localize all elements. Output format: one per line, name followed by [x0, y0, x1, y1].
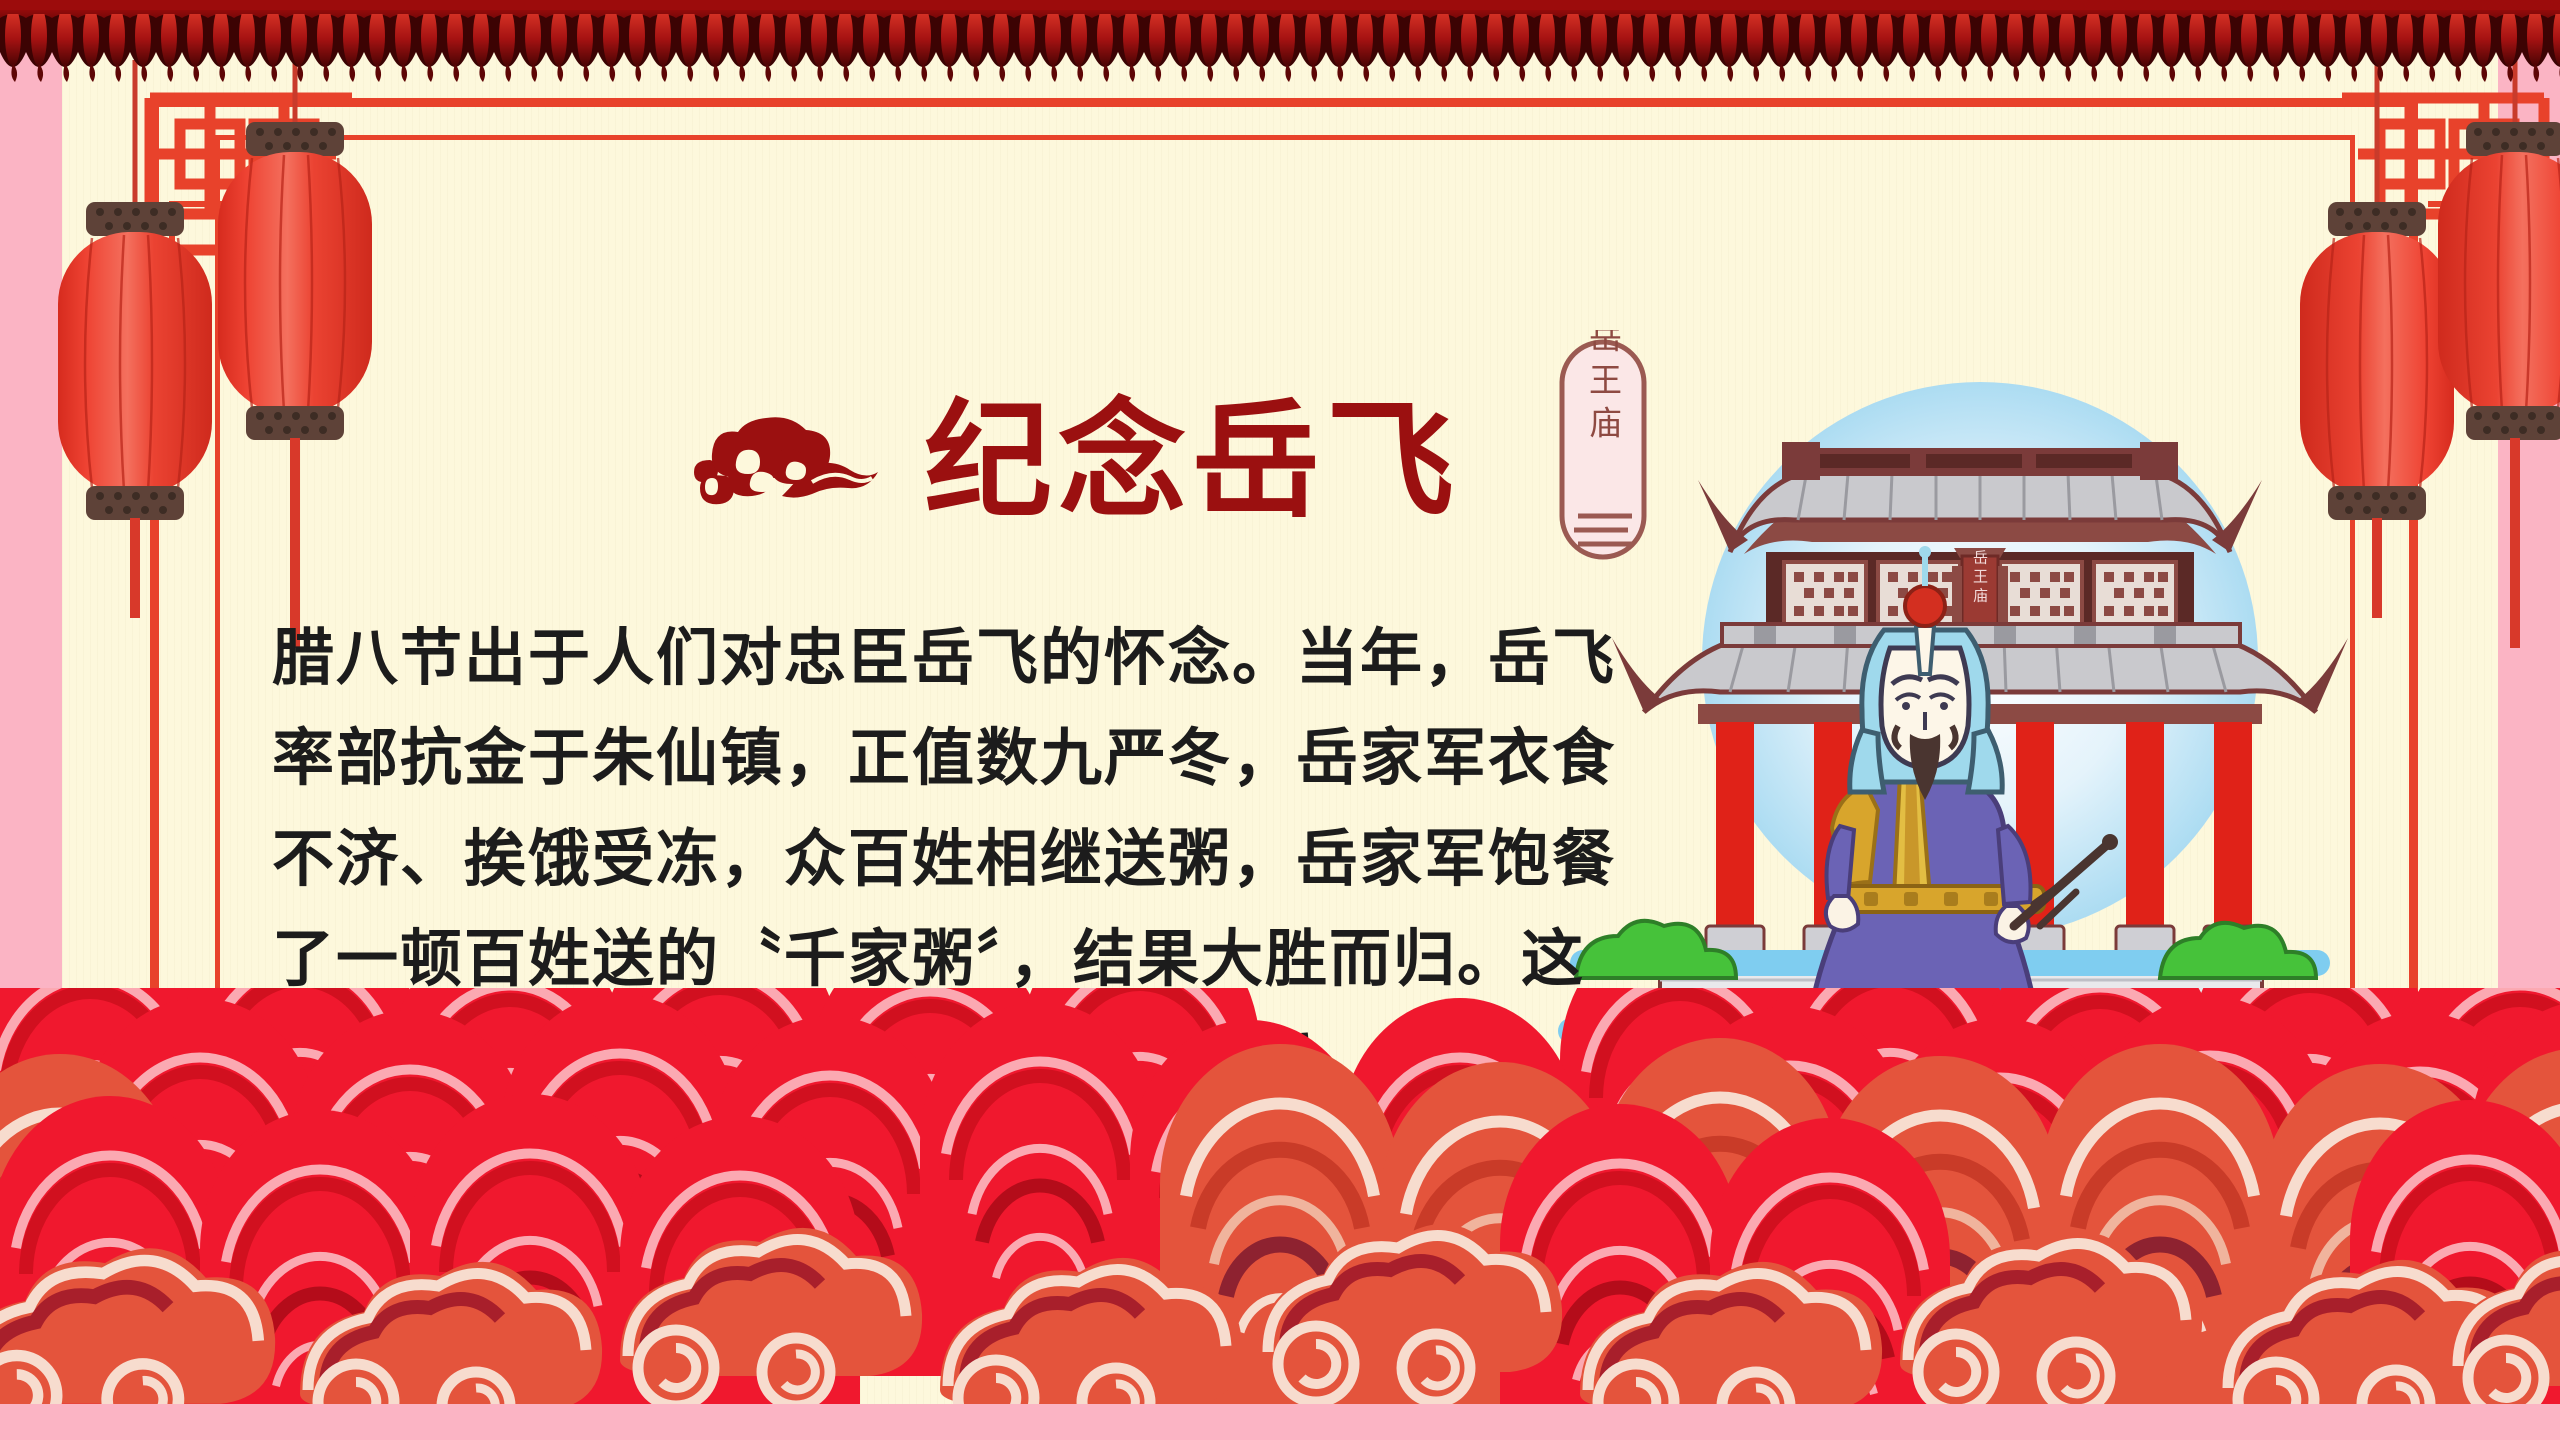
tassel-valance-decoration — [0, 0, 2560, 86]
frame-inner-top — [215, 135, 2355, 140]
plaque-text: 岳王庙 — [1971, 550, 1989, 607]
frame-line-top — [150, 98, 2418, 107]
temple-name-banner: 岳王庙 — [1562, 330, 1644, 557]
lantern-decoration — [180, 40, 410, 665]
body-line: 腊八节出于人们对忠臣岳飞的怀念。当年，岳飞 — [272, 608, 1472, 708]
poster-canvas: 纪念岳飞 腊八节出于人们对忠臣岳飞的怀念。当年，岳飞 率部抗金于朱仙镇，正值数九… — [0, 0, 2560, 1440]
body-line: 不济、挨饿受冻，众百姓相继送粥，岳家军饱餐 — [272, 809, 1472, 909]
lantern-decoration — [2400, 40, 2560, 665]
bottom-pink-border — [0, 1404, 2560, 1440]
sea-wave-cloud-pattern — [0, 988, 2560, 1418]
yue-wang-temple-illustration: 岳王庙 — [1548, 330, 2348, 1070]
body-line: 率部抗金于朱仙镇，正值数九严冬，岳家军衣食 — [272, 708, 1472, 808]
temple-upper-roof — [1698, 442, 2262, 554]
auspicious-cloud-icon — [690, 410, 880, 514]
title-block: 纪念岳飞 — [690, 398, 1460, 526]
page-title: 纪念岳飞 — [924, 398, 1460, 526]
banner-char: 岳王庙 — [1584, 330, 1623, 449]
